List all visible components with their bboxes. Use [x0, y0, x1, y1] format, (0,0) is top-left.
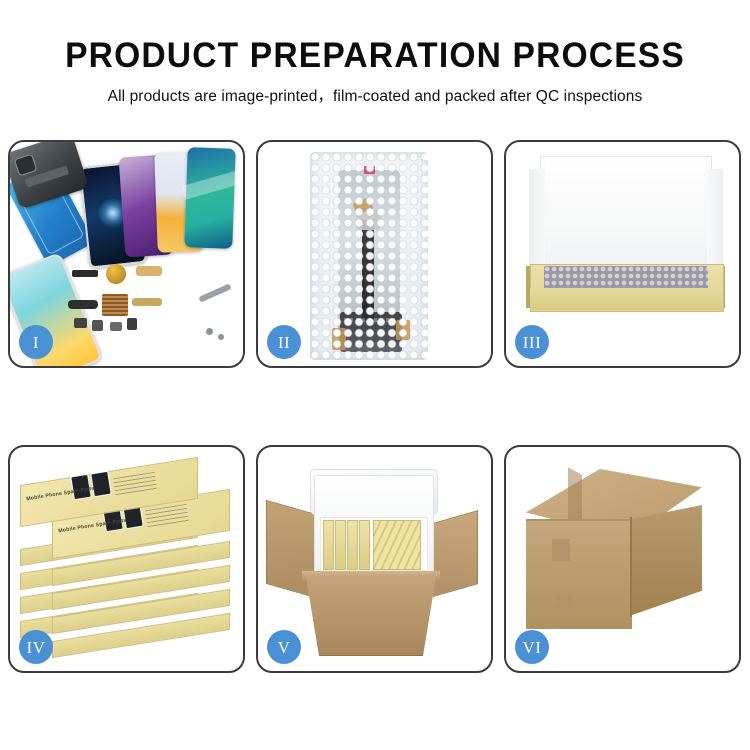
panel-badge-4: IV	[19, 630, 53, 664]
foam-sheet	[546, 160, 704, 270]
screwdriver-tool	[198, 283, 232, 302]
carton-tab-lower	[558, 597, 574, 617]
carton-tab-upper	[552, 539, 570, 561]
tray-front-face	[530, 288, 722, 310]
process-panel-grid: I II	[8, 140, 742, 685]
inner-box-1	[323, 520, 334, 570]
inner-box-4	[359, 520, 370, 570]
panel-badge-5: V	[267, 630, 301, 664]
inner-box-3	[347, 520, 358, 570]
small-component-4	[127, 318, 137, 330]
process-panel-6[interactable]: VI	[504, 445, 741, 673]
process-panel-2[interactable]: II	[256, 140, 493, 368]
process-panel-4[interactable]: Mobile Phone Spare Parts Mobile Phone Sp…	[8, 445, 245, 673]
bubble-texture	[310, 152, 428, 360]
bubble-wrap-bag	[310, 152, 428, 360]
page-subtitle: All products are image-printed，film-coat…	[0, 84, 750, 106]
phone-display-teal	[184, 147, 235, 249]
process-panel-3[interactable]: III	[504, 140, 741, 368]
inner-box-group-slanted	[373, 520, 421, 570]
screw-part-2	[218, 334, 224, 340]
speaker-part	[72, 270, 98, 277]
panel-badge-3: III	[515, 325, 549, 359]
carton-body	[306, 577, 436, 656]
small-component-2	[92, 320, 103, 331]
page-title: PRODUCT PREPARATION PROCESS	[15, 36, 735, 76]
foam-cavity	[320, 517, 428, 571]
small-component-1	[74, 318, 87, 328]
carton-side-face	[632, 505, 702, 615]
inner-box-2	[335, 520, 346, 570]
carton-top-seam	[526, 519, 632, 521]
carton-front-face	[526, 519, 632, 629]
screw-part-1	[206, 328, 213, 335]
phone-housing-part	[10, 142, 89, 210]
process-panel-1[interactable]: I	[8, 140, 245, 368]
carton-vertical-edge	[630, 517, 632, 617]
box-print-screen-2	[90, 471, 112, 498]
panel-badge-2: II	[267, 325, 301, 359]
small-component-3	[110, 322, 122, 331]
flex-cable-part-1	[136, 266, 162, 276]
panel-badge-6: VI	[515, 630, 549, 664]
panel-badge-1: I	[19, 325, 53, 359]
ribbon-cable-part	[68, 300, 98, 309]
flex-cable-part-2	[132, 298, 162, 306]
process-panel-5[interactable]: V	[256, 445, 493, 673]
product-preparation-infographic: PRODUCT PREPARATION PROCESS All products…	[0, 0, 750, 750]
vibrator-motor-part	[106, 264, 126, 284]
connector-grid-part	[102, 294, 128, 316]
